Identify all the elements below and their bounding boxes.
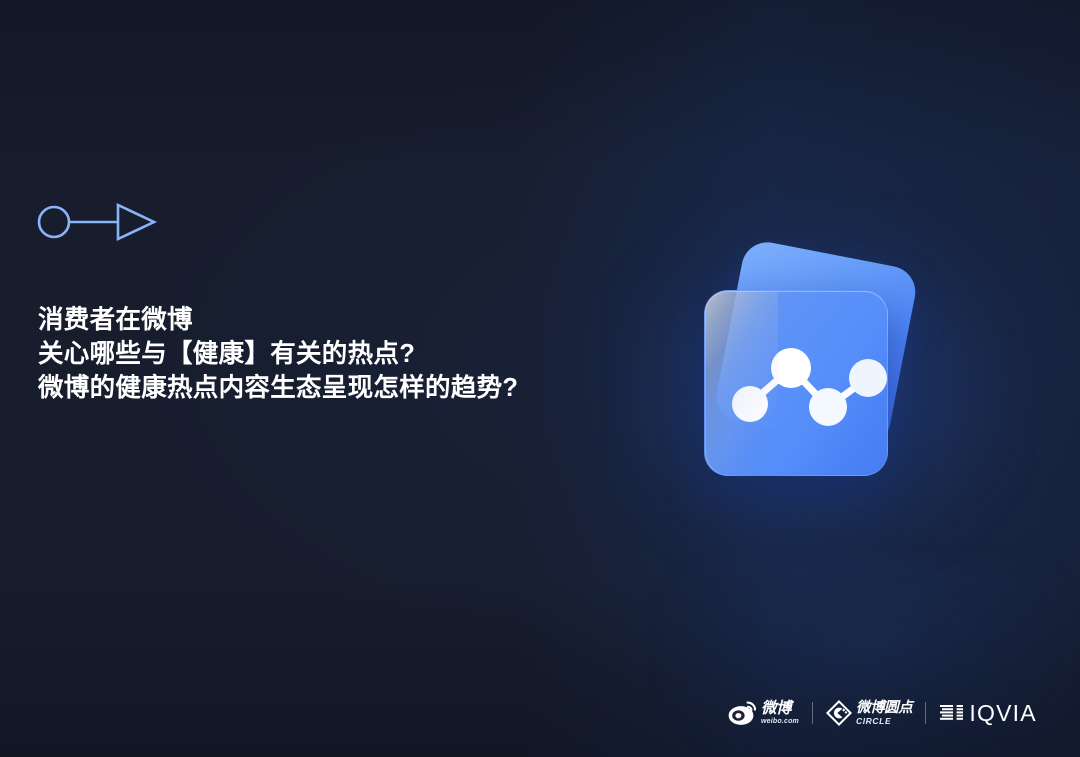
iqvia-logo: IQVIA [939,701,1036,725]
slide-canvas: 消费者在微博 关心哪些与【健康】有关的热点? 微博的健康热点内容生态呈现怎样的趋… [0,0,1080,757]
weibo-logo: 微博 weibo.com [728,700,799,726]
weibo-circle-logo: 微博圆点 CIRCLE [826,700,912,726]
weibo-wordmark: 微博 weibo.com [761,701,799,726]
iqvia-bars-icon [939,702,965,724]
iqvia-wordmark: IQVIA [969,701,1036,725]
stacked-cards-trend-chart-icon [688,243,928,493]
headline-line-3: 微博的健康热点内容生态呈现怎样的趋势? [38,371,678,405]
weibo-eye-icon [728,700,758,726]
weibo-circle-wordmark: 微博圆点 CIRCLE [856,701,912,726]
weibo-circle-name-en: CIRCLE [856,716,912,726]
weibo-name-cn: 微博 [761,701,799,717]
logo-divider-2 [925,702,926,724]
logo-divider-1 [812,702,813,724]
weibo-url: weibo.com [761,717,799,726]
circle-line-arrow-icon [36,198,162,246]
footer-logo-bar: 微博 weibo.com 微博圆点 CIRCLE [728,694,1037,732]
diamond-circle-icon [826,700,852,726]
trend-chart-graphic [705,291,887,475]
card-front-shape [704,290,888,476]
headline-line-2: 关心哪些与【健康】有关的热点? [38,337,678,371]
headline-block: 消费者在微博 关心哪些与【健康】有关的热点? 微博的健康热点内容生态呈现怎样的趋… [38,303,678,405]
headline-line-1: 消费者在微博 [38,303,678,337]
weibo-circle-name-cn: 微博圆点 [856,701,912,716]
